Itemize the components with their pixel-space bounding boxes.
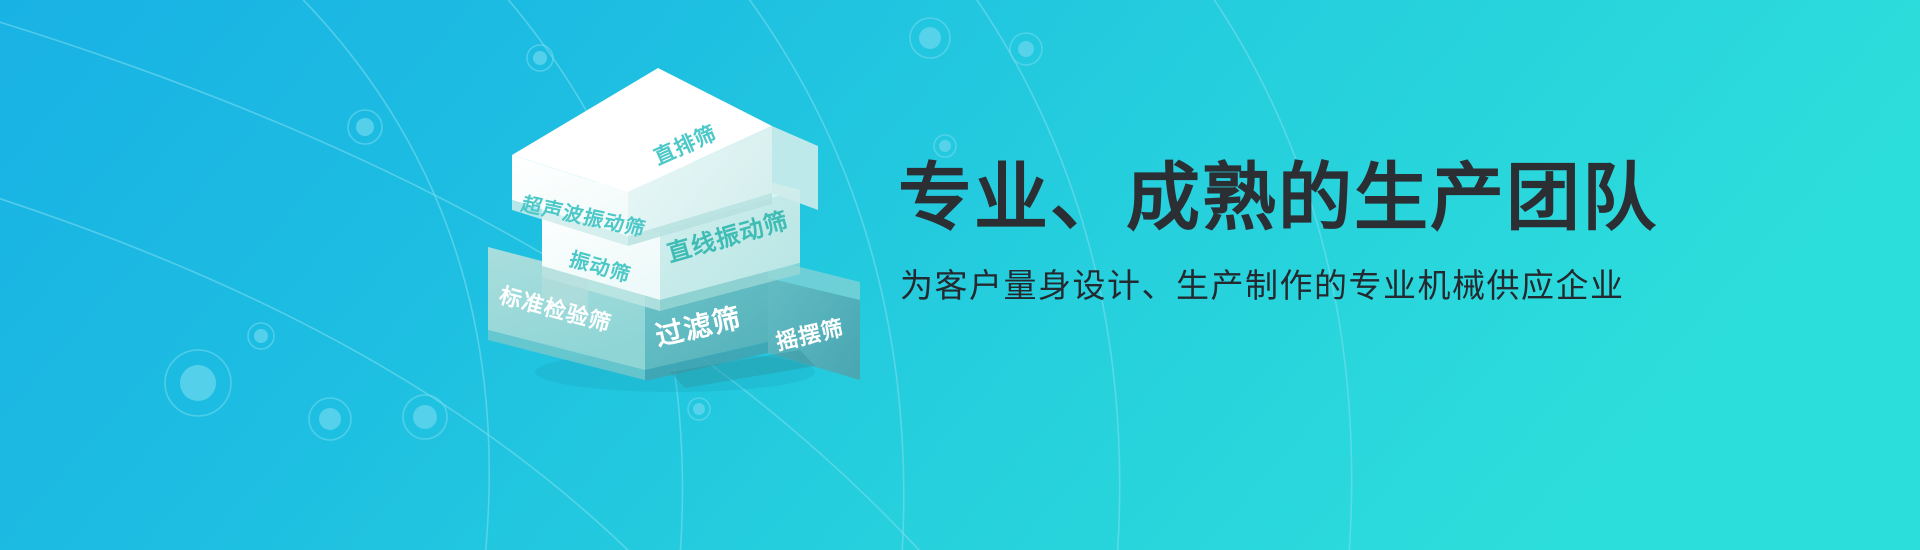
decor-arc: [0, 0, 489, 550]
page-title: 专业、成熟的生产团队: [898, 160, 1798, 235]
hero-banner: 超声波振动筛 直排筛 振动筛 直线振动筛 标准检验筛 过滤筛 摇摆筛 专业、成熟…: [0, 0, 1920, 550]
decor-node-dot: [939, 140, 951, 152]
decor-node-dot: [693, 403, 705, 415]
decor-node-dot: [1018, 41, 1034, 57]
decor-node-ring: [910, 18, 950, 58]
decor-node-dot: [180, 365, 216, 401]
decor-node-ring: [403, 395, 447, 439]
decor-node-dot: [319, 408, 341, 430]
decor-node-ring: [934, 135, 956, 157]
decor-node-dot: [413, 405, 437, 429]
decor-node-ring: [688, 398, 710, 420]
stacked-cube-illustration: 超声波振动筛 直排筛 振动筛 直线振动筛 标准检验筛 过滤筛 摇摆筛: [470, 50, 890, 400]
decor-node-ring: [1010, 33, 1042, 65]
decor-node-dot: [356, 118, 374, 136]
page-subtitle: 为客户量身设计、生产制作的专业机械供应企业: [900, 268, 1798, 304]
decor-node-ring: [248, 323, 274, 349]
hero-text-block: 专业、成熟的生产团队 为客户量身设计、生产制作的专业机械供应企业: [898, 160, 1798, 305]
decor-node-ring: [165, 350, 231, 416]
decor-node-dot: [919, 27, 941, 49]
decor-node-dot: [254, 329, 268, 343]
decor-node-ring: [348, 110, 382, 144]
decor-node-ring: [309, 398, 351, 440]
